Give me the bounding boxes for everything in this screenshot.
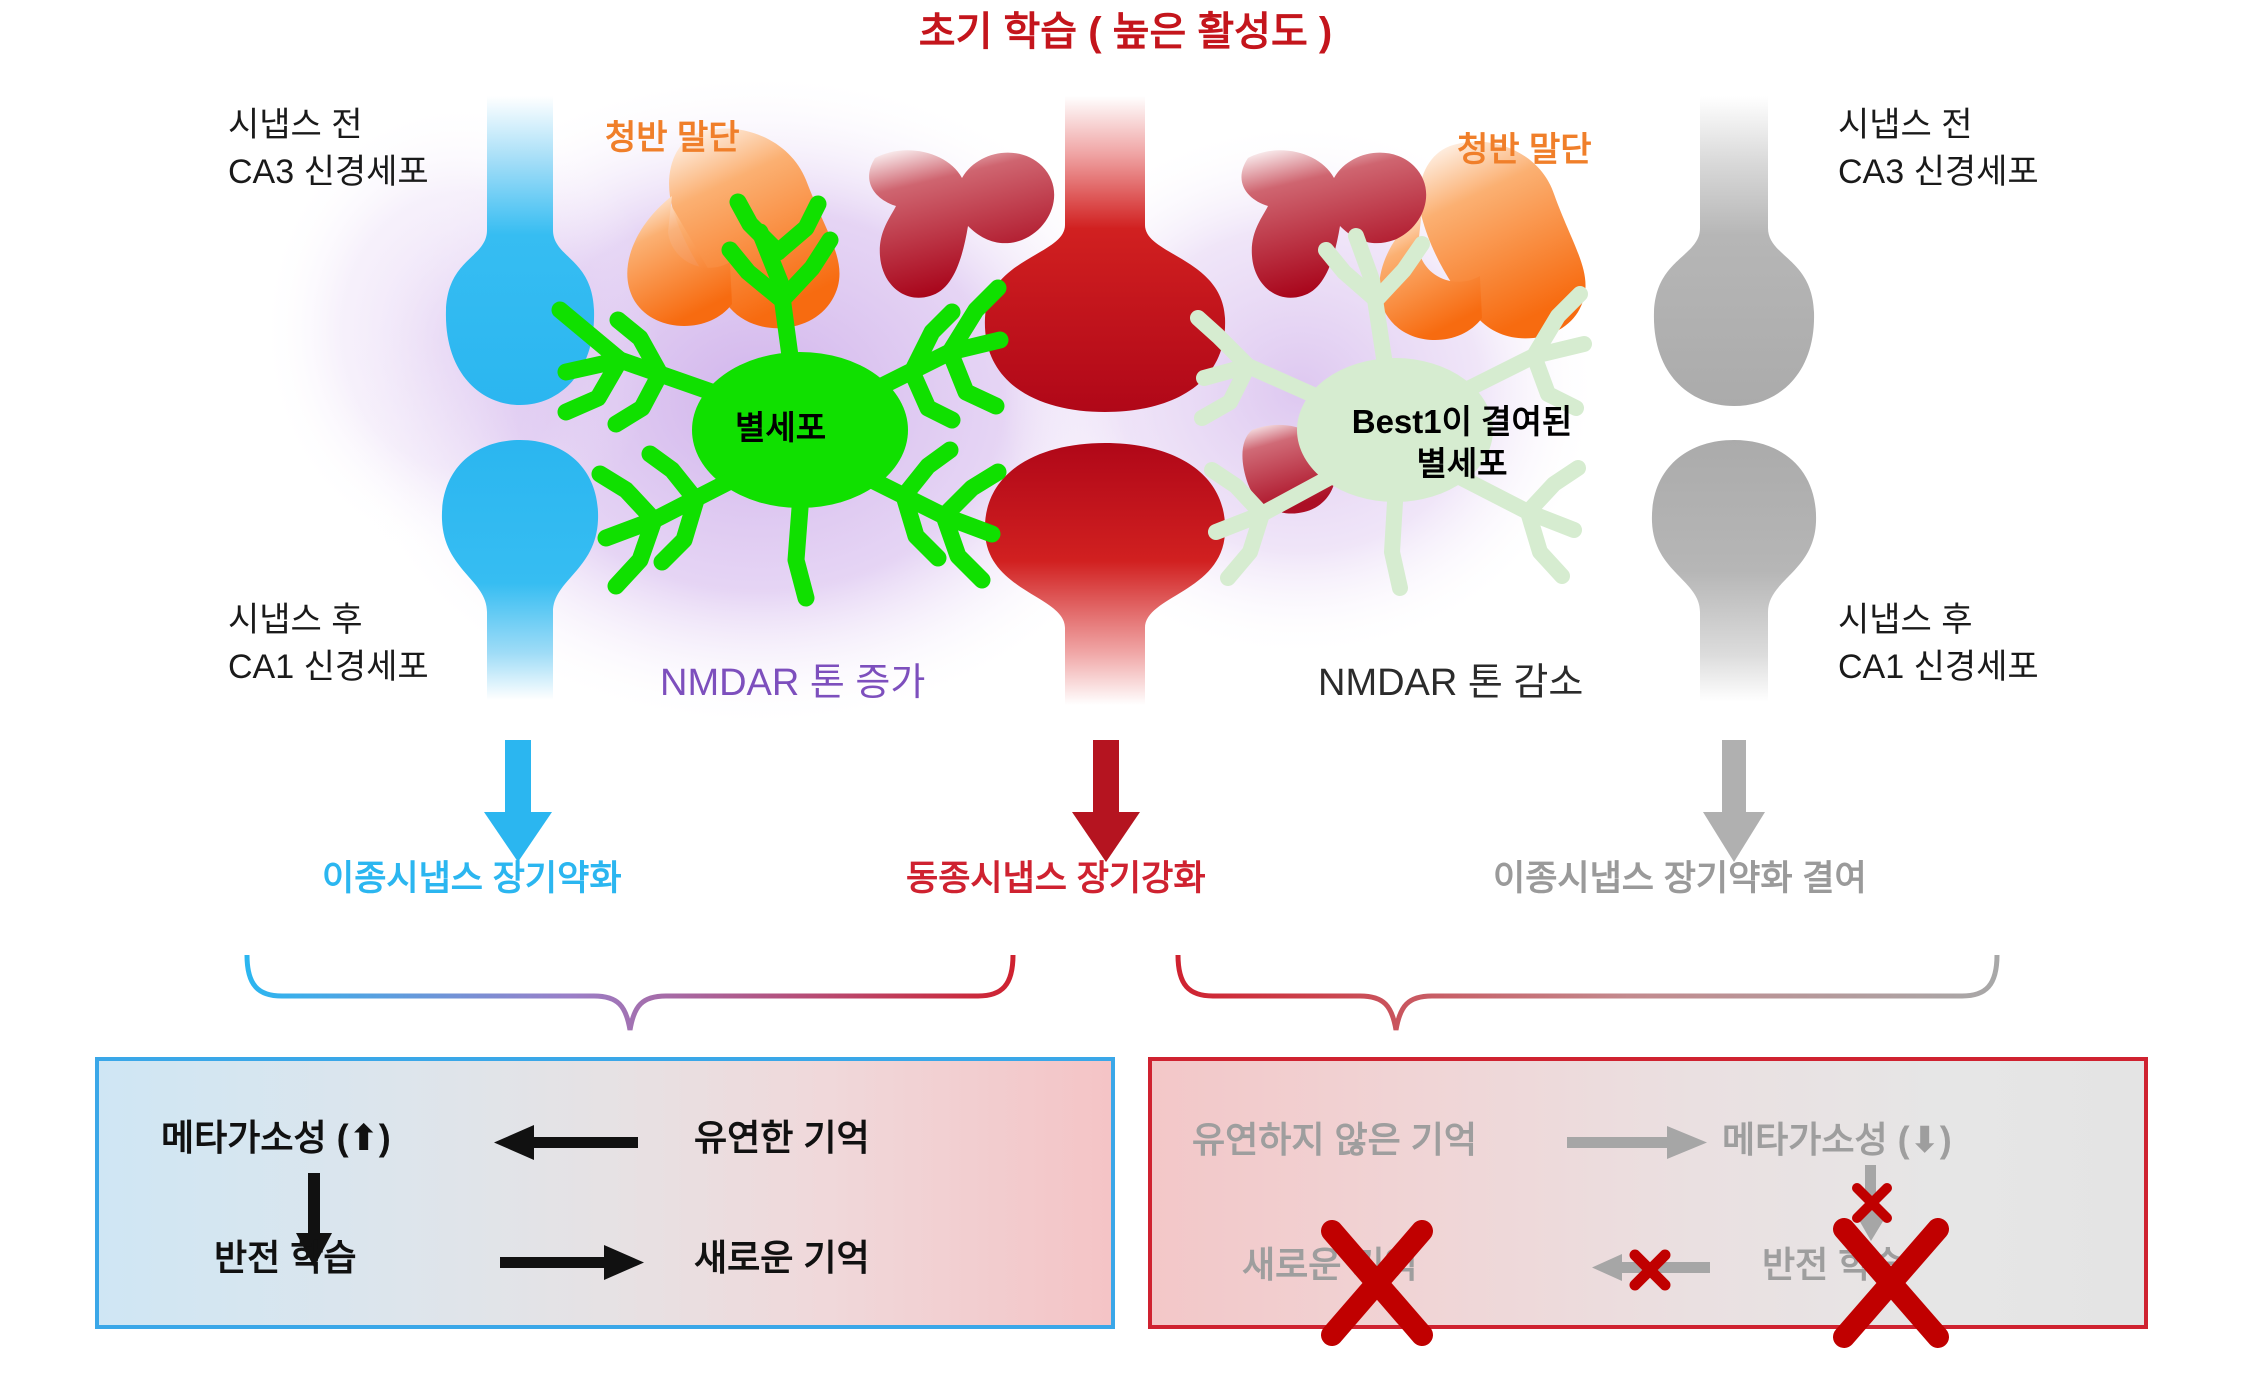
label-best1-ko-line2: 별세포 [1312, 444, 1612, 484]
label-presynaptic-left-line2: CA3 신경세포 [228, 152, 429, 193]
label-presynaptic-right-line1: 시냅스 전 [1838, 105, 1973, 146]
label-lc-terminal-left: 청반 말단 [605, 118, 740, 159]
left-reversal-learning-label: 반전 학습 [214, 1229, 356, 1281]
label-postsynaptic-right-line2: CA1 신경세포 [1838, 647, 2039, 688]
right-arrow-to-metaplasticity [1567, 1125, 1707, 1161]
label-postsynaptic-right-line1: 시냅스 후 [1838, 600, 1973, 641]
label-postsynaptic-left-line2: CA1 신경세포 [228, 647, 429, 688]
left-new-memory-label: 새로운 기억 [694, 1229, 870, 1281]
left-arrow-to-new-memory [494, 1243, 644, 1283]
left-arrow-to-metaplasticity [494, 1123, 644, 1163]
arrow-down-red [1072, 740, 1140, 862]
outcome-right-hetero-ltd-absent: 이종시냅스 장기약화 결여 [1493, 858, 1867, 901]
brace-left [247, 955, 1013, 1030]
result-box-left: 메타가소성 (⬆) 유연한 기억 반전 학습 새로운 기억 [95, 1057, 1115, 1329]
left-metaplasticity-label: 메타가소성 (⬆) [161, 1109, 391, 1161]
diagram-canvas: 초기 학습 ( 높은 활성도 ) 시냅스 전 CA3 신경세포 시냅스 후 CA… [0, 0, 2251, 1382]
arrow-down-cyan [484, 740, 552, 862]
outcome-center-homo-ltp: 동종시냅스 장기강화 [906, 858, 1206, 901]
right-inflexible-memory-label: 유연하지 않은 기억 [1192, 1111, 1477, 1163]
label-nmdar-tone-increase: NMDAR 톤 증가 [660, 660, 925, 706]
right-arrow-to-new-memory [1592, 1251, 1710, 1285]
label-lc-terminal-right: 청반 말단 [1457, 130, 1592, 171]
label-astrocyte: 별세포 [735, 408, 826, 448]
page-title: 초기 학습 ( 높은 활성도 ) [0, 8, 2251, 57]
label-nmdar-tone-decrease: NMDAR 톤 감소 [1318, 660, 1583, 706]
arrow-down-gray [1703, 740, 1765, 862]
brace-right [1178, 955, 1997, 1030]
right-new-memory-label: 새로운 기억 [1242, 1236, 1418, 1288]
result-box-right: 유연하지 않은 기억 메타가소성 (⬇) 새로운 기억 반전 학습 [1148, 1057, 2148, 1329]
label-best1-ko-line1: Best1이 결여된 [1312, 402, 1612, 442]
outcome-left-hetero-ltd: 이종시냅스 장기약화 [322, 858, 622, 901]
synapse-right-gray [1652, 96, 1816, 702]
right-reversal-learning-label: 반전 학습 [1762, 1236, 1904, 1288]
right-metaplasticity-label: 메타가소성 (⬇) [1722, 1111, 1952, 1163]
label-presynaptic-left-line1: 시냅스 전 [228, 105, 363, 146]
left-flexible-memory-label: 유연한 기억 [694, 1109, 870, 1161]
right-arrow-down [1852, 1165, 1892, 1243]
label-presynaptic-right-line2: CA3 신경세포 [1838, 152, 2039, 193]
label-postsynaptic-left-line1: 시냅스 후 [228, 600, 363, 641]
